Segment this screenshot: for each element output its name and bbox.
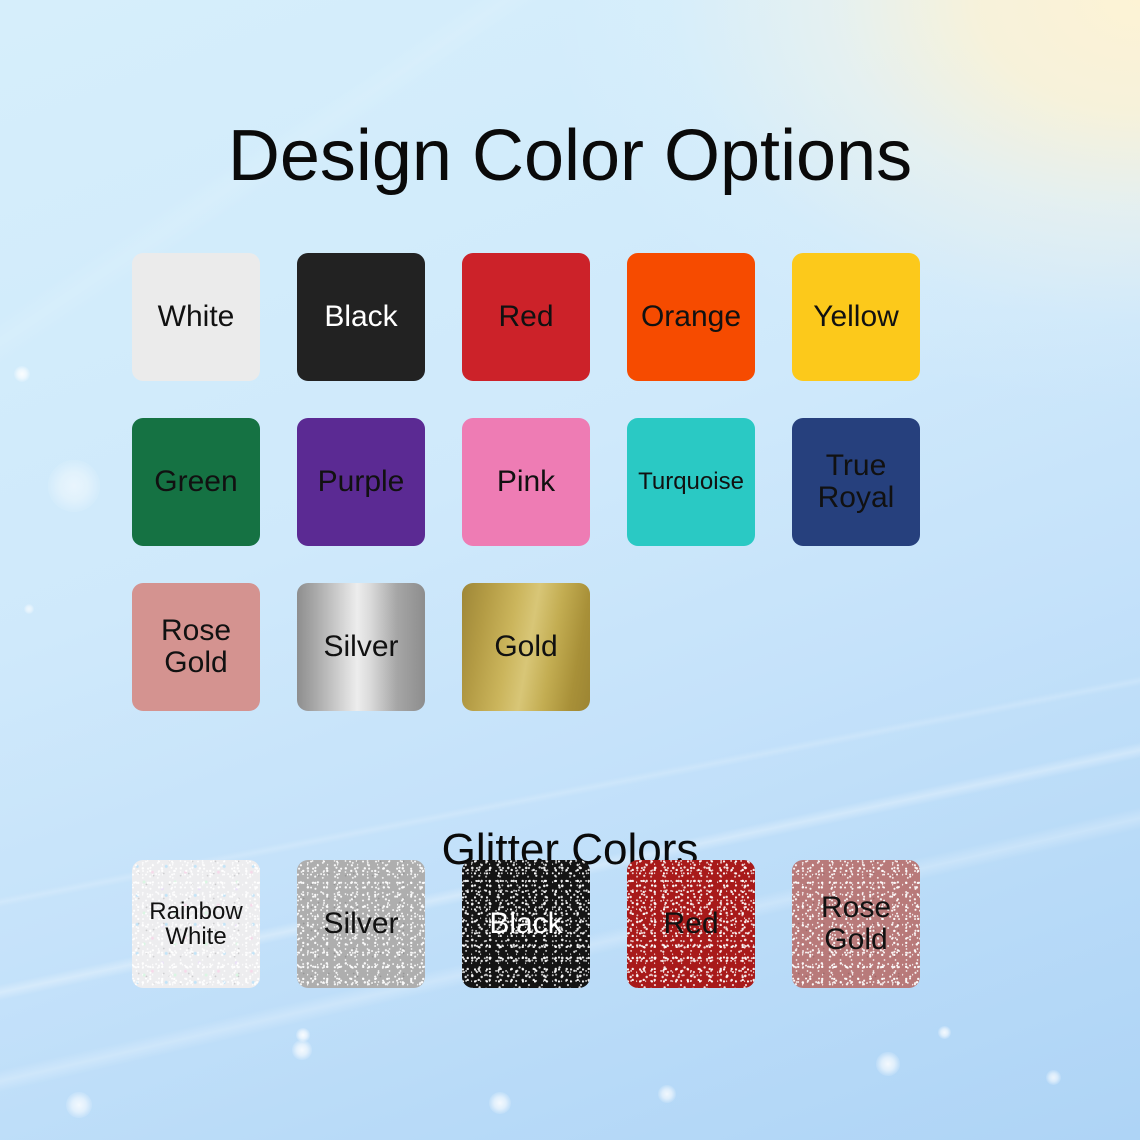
color-swatch-row: Rose GoldSilverGold [0, 583, 1140, 711]
color-swatch-cell: Silver [297, 860, 425, 988]
color-swatch-cell: Orange [627, 253, 755, 381]
color-options-canvas: Design Color Options WhiteBlackRedOrange… [0, 0, 1140, 1140]
solid-swatch-purple[interactable]: Purple [297, 418, 425, 546]
color-swatch-label: White [155, 301, 238, 333]
solid-swatch-gold[interactable]: Gold [462, 583, 590, 711]
solid-swatch-green[interactable]: Green [132, 418, 260, 546]
color-swatch-label: Black [486, 908, 565, 940]
color-swatch-cell: Pink [462, 418, 590, 546]
bokeh-dot [296, 1028, 310, 1042]
color-swatch-cell: Yellow [792, 253, 920, 381]
color-swatch-label: Rose Gold [158, 615, 234, 679]
color-swatch-label: Gold [491, 631, 560, 663]
color-swatch-label: Red [495, 301, 556, 333]
glitter-swatch-silver[interactable]: Silver [297, 860, 425, 988]
glitter-color-grid: Rainbow WhiteSilverBlackRedRose Gold [0, 860, 1140, 988]
bokeh-dot [66, 1092, 92, 1118]
color-swatch-row: Rainbow WhiteSilverBlackRedRose Gold [0, 860, 1140, 988]
solid-swatch-black[interactable]: Black [297, 253, 425, 381]
color-swatch-label: Silver [320, 908, 401, 940]
color-swatch-label: Red [660, 908, 721, 940]
color-swatch-label: Purple [315, 466, 408, 498]
color-swatch-cell: Rainbow White [132, 860, 260, 988]
color-swatch-cell: Red [627, 860, 755, 988]
color-swatch-label: Green [151, 466, 240, 498]
color-swatch-row: WhiteBlackRedOrangeYellow [0, 253, 1140, 381]
glitter-swatch-black[interactable]: Black [462, 860, 590, 988]
color-swatch-cell: Black [297, 253, 425, 381]
color-swatch-cell: Gold [462, 583, 590, 711]
glitter-swatch-rainbow-white[interactable]: Rainbow White [132, 860, 260, 988]
solid-swatch-yellow[interactable]: Yellow [792, 253, 920, 381]
color-swatch-row: GreenPurplePinkTurquoiseTrue Royal [0, 418, 1140, 546]
color-swatch-cell: Rose Gold [792, 860, 920, 988]
page-title: Design Color Options [0, 120, 1140, 192]
color-swatch-label: Rainbow White [146, 899, 245, 950]
color-swatch-cell: Rose Gold [132, 583, 260, 711]
bokeh-dot [489, 1092, 511, 1114]
bokeh-dot [292, 1040, 312, 1060]
bokeh-dot [1046, 1070, 1061, 1085]
solid-swatch-white[interactable]: White [132, 253, 260, 381]
solid-color-grid: WhiteBlackRedOrangeYellowGreenPurplePink… [0, 253, 1140, 748]
color-swatch-label: Orange [638, 301, 744, 333]
solid-swatch-red[interactable]: Red [462, 253, 590, 381]
color-swatch-label: Rose Gold [818, 892, 894, 956]
glitter-swatch-red[interactable]: Red [627, 860, 755, 988]
color-swatch-cell: Silver [297, 583, 425, 711]
color-swatch-cell: Red [462, 253, 590, 381]
glitter-swatch-rose-gold[interactable]: Rose Gold [792, 860, 920, 988]
color-swatch-cell: Purple [297, 418, 425, 546]
bokeh-dot [938, 1026, 951, 1039]
bokeh-dot [876, 1052, 900, 1076]
solid-swatch-rose-gold[interactable]: Rose Gold [132, 583, 260, 711]
color-swatch-cell: White [132, 253, 260, 381]
bokeh-dot [658, 1085, 676, 1103]
color-swatch-cell: True Royal [792, 418, 920, 546]
solid-swatch-turquoise[interactable]: Turquoise [627, 418, 755, 546]
solid-swatch-true-royal[interactable]: True Royal [792, 418, 920, 546]
color-swatch-label: Black [321, 301, 400, 333]
color-swatch-label: Pink [494, 466, 558, 498]
color-swatch-label: Silver [320, 631, 401, 663]
color-swatch-label: Turquoise [635, 469, 747, 494]
color-swatch-label: Yellow [810, 301, 902, 333]
color-swatch-cell: Green [132, 418, 260, 546]
color-swatch-cell: Turquoise [627, 418, 755, 546]
solid-swatch-silver[interactable]: Silver [297, 583, 425, 711]
color-swatch-cell: Black [462, 860, 590, 988]
solid-swatch-orange[interactable]: Orange [627, 253, 755, 381]
solid-swatch-pink[interactable]: Pink [462, 418, 590, 546]
color-swatch-label: True Royal [815, 450, 898, 514]
